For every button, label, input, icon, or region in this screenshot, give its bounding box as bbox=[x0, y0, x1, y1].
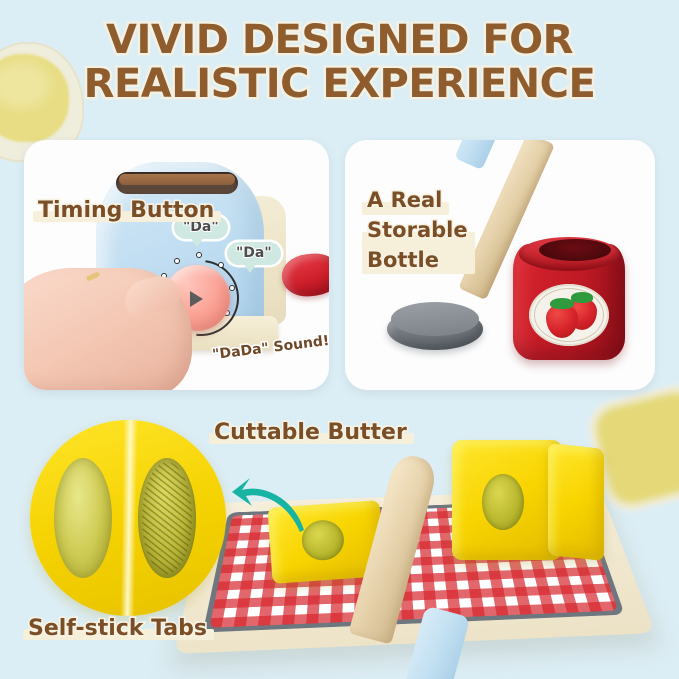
label-bottle-line-2: Storable bbox=[367, 216, 468, 246]
label-timing-button: Timing Button bbox=[38, 198, 214, 223]
dial-tick-3 bbox=[196, 252, 202, 258]
infographic-stage: VIVID DESIGNED FOR REALISTIC EXPERIENCE bbox=[0, 0, 679, 679]
dial-tick-4 bbox=[218, 262, 224, 268]
dial-tick-2 bbox=[174, 258, 180, 264]
label-bottle-line-1: A Real bbox=[367, 186, 442, 216]
label-self-stick-tabs: Self-stick Tabs bbox=[28, 616, 207, 641]
feature-card-timing-button: "Da" "Da" "DaDa" Sound! Timing Button bbox=[24, 140, 329, 390]
butter-scene: Cuttable Butter Self-stick Tabs bbox=[0, 398, 679, 679]
velcro-tab-soft-side bbox=[54, 458, 112, 578]
headline-line-2: REALISTIC EXPERIENCE bbox=[0, 62, 679, 106]
toaster-photo: "Da" "Da" "DaDa" Sound! Timing Button bbox=[24, 140, 329, 390]
strawberry-icon-a bbox=[546, 304, 578, 338]
label-storable-bottle: A Real Storable Bottle bbox=[367, 186, 468, 275]
teal-arrow-icon bbox=[230, 476, 308, 534]
label-bottle-line-3: Bottle bbox=[367, 246, 439, 276]
jar-lid bbox=[387, 308, 483, 350]
butter-block-right-a bbox=[452, 440, 562, 560]
finger-ring bbox=[86, 271, 101, 281]
page-headline: VIVID DESIGNED FOR REALISTIC EXPERIENCE bbox=[0, 18, 679, 106]
label-cuttable-butter: Cuttable Butter bbox=[214, 420, 407, 445]
butter-split-seam bbox=[120, 420, 138, 616]
dial-tick-5 bbox=[229, 285, 235, 291]
jar-strawberry-label bbox=[529, 284, 609, 346]
toaster-red-lever[interactable] bbox=[280, 251, 329, 299]
hand-photo bbox=[24, 268, 192, 390]
bottle-photo: A Real Storable Bottle bbox=[345, 140, 655, 390]
dial-pointer-icon bbox=[190, 291, 203, 307]
toaster-bread-slot bbox=[116, 172, 238, 194]
jar-opening bbox=[539, 239, 611, 261]
jar-rim bbox=[519, 237, 619, 271]
velcro-tab-hook-side bbox=[138, 458, 196, 578]
self-stick-tabs-closeup bbox=[30, 420, 226, 616]
speech-bubble-da-2: "Da" bbox=[227, 242, 281, 265]
feature-card-storable-bottle: A Real Storable Bottle bbox=[345, 140, 655, 390]
butter-block-right-b bbox=[548, 443, 604, 561]
jam-jar bbox=[513, 244, 625, 360]
headline-line-1: VIVID DESIGNED FOR bbox=[106, 17, 573, 63]
butter-tab-right-a bbox=[482, 474, 524, 530]
